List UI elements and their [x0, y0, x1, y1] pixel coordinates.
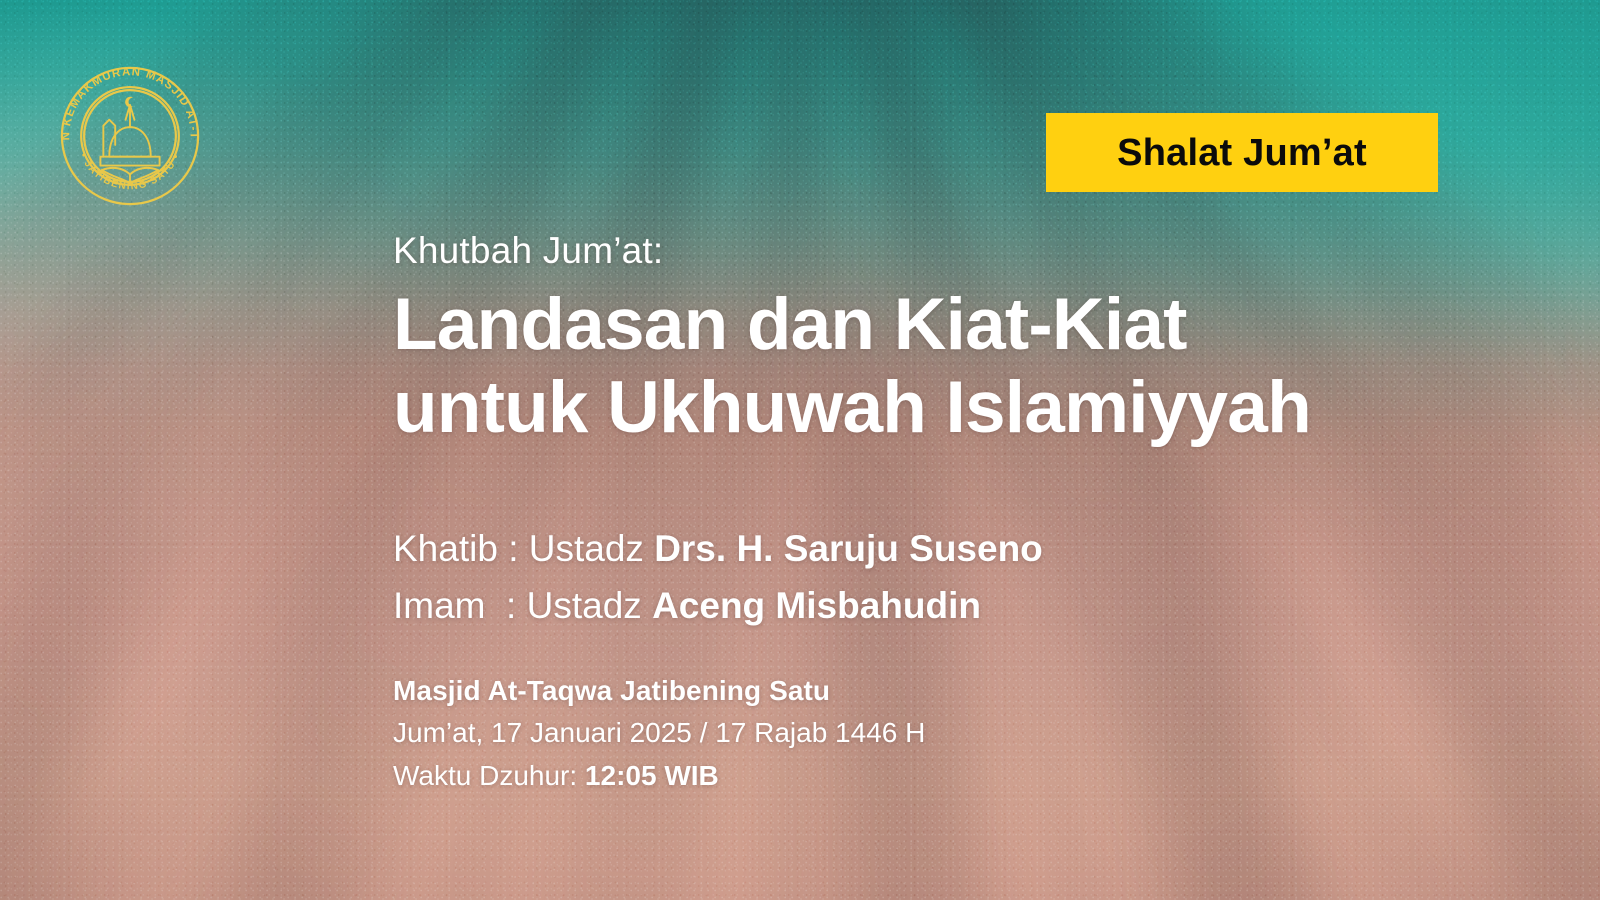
- venue-date: Jum’at, 17 Januari 2025 / 17 Rajab 1446 …: [393, 712, 1513, 755]
- venue-name: Masjid At-Taqwa Jatibening Satu: [393, 670, 1513, 713]
- imam-name: Aceng Misbahudin: [652, 585, 981, 626]
- mosque-seal-logo: DEWAN KEMAKMURAN MASJID AT-TAQWA • JATIB…: [56, 62, 204, 210]
- venue-time-value: 12:05 WIB: [585, 760, 719, 791]
- imam-role-label: Imam : Ustadz: [393, 585, 652, 626]
- badge-label: Shalat Jum’at: [1117, 134, 1367, 172]
- svg-text:• JATIBENING SATU •: • JATIBENING SATU •: [77, 152, 182, 193]
- venue-time: Waktu Dzuhur: 12:05 WIB: [393, 755, 1513, 798]
- khatib-name: Drs. H. Saruju Suseno: [654, 528, 1043, 569]
- seal-bottom-text: • JATIBENING SATU •: [77, 152, 182, 193]
- khatib-row: Khatib : Ustadz Drs. H. Saruju Suseno: [393, 521, 1513, 577]
- imam-row: Imam : Ustadz Aceng Misbahudin: [393, 578, 1513, 634]
- venue-time-label: Waktu Dzuhur:: [393, 760, 585, 791]
- page-title: Landasan dan Kiat-Kiat untuk Ukhuwah Isl…: [393, 283, 1513, 449]
- venue-details: Masjid At-Taqwa Jatibening Satu Jum’at, …: [393, 670, 1513, 798]
- mosque-icon: [100, 97, 159, 184]
- khutbah-eyebrow: Khutbah Jum’at:: [393, 232, 1513, 269]
- poster-content: Khutbah Jum’at: Landasan dan Kiat-Kiat u…: [393, 232, 1513, 798]
- poster-canvas: DEWAN KEMAKMURAN MASJID AT-TAQWA • JATIB…: [0, 0, 1600, 900]
- khatib-role-label: Khatib : Ustadz: [393, 528, 654, 569]
- speakers-list: Khatib : Ustadz Drs. H. Saruju Suseno Im…: [393, 521, 1513, 633]
- shalat-jumat-badge[interactable]: Shalat Jum’at: [1046, 113, 1438, 192]
